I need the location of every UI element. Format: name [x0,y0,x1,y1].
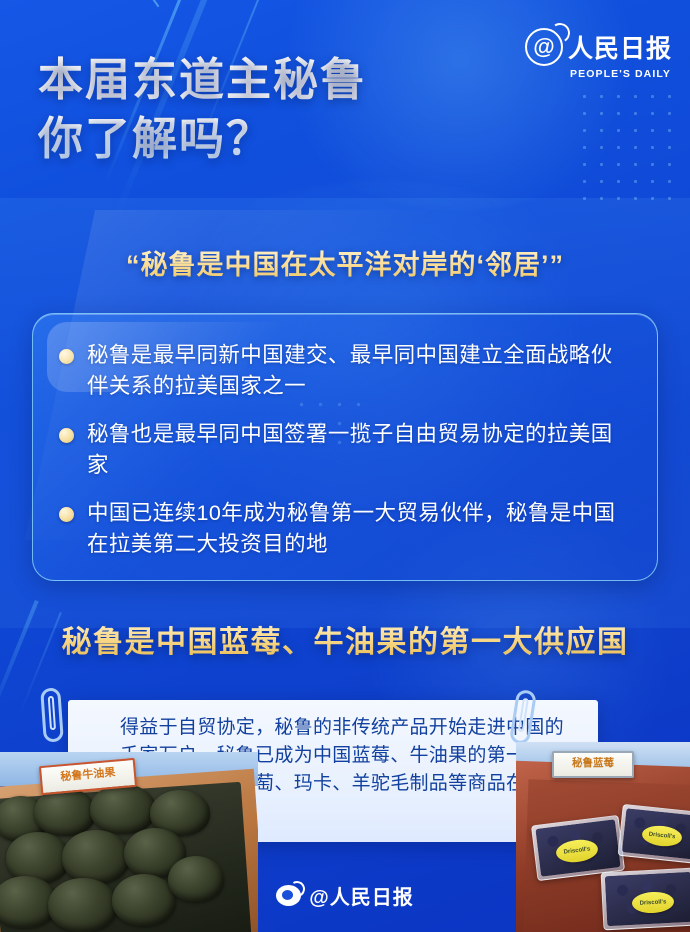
dot-grid-pattern [576,88,672,208]
paperclip-icon [40,687,64,742]
list-item-text: 秘鲁是最早同新中国建交、最早同中国建立全面战略伙伴关系的拉美国家之一 [87,340,627,403]
section-subheading: 秘鲁是中国蓝莓、牛油果的第一大供应国 [0,617,690,661]
weibo-icon [276,885,301,906]
at-sign-icon: @ [525,28,563,66]
list-item-text: 中国已连续10年成为秘鲁第一大贸易伙伴，秘鲁是中国在拉美第二大投资目的地 [87,498,627,561]
avocado [62,830,130,884]
page-title: 本届东道主秘鲁 你了解吗？ [38,50,367,169]
product-tag-blueberry: 秘鲁蓝莓 [552,751,634,778]
weibo-signal-arc [287,879,307,899]
list-item-text: 秘鲁也是最早同中国签署一揽子自由贸易协定的拉美国家 [87,419,627,482]
footer-watermark: @人民日报 [0,881,690,910]
pull-quote: “秘鲁是中国在太平洋对岸的‘邻居’” [0,243,690,282]
list-item: 秘鲁也是最早同中国签署一揽子自由贸易协定的拉美国家 [59,419,627,482]
bullet-dot-icon [59,428,74,443]
list-item: 秘鲁是最早同新中国建交、最早同中国建立全面战略伙伴关系的拉美国家之一 [59,340,627,403]
logo-chinese-name: 人民日报 [568,29,672,65]
logo-english-name: PEOPLE'S DAILY [570,68,671,80]
list-item: 中国已连续10年成为秘鲁第一大贸易伙伴，秘鲁是中国在拉美第二大投资目的地 [59,498,627,561]
peoples-daily-logo: @ 人民日报 PEOPLE'S DAILY [525,28,672,80]
bullet-dot-icon [59,507,74,522]
avocado [34,788,96,836]
footer-handle: @人民日报 [309,881,414,910]
bullet-dot-icon [59,349,74,364]
infographic-poster: @ 人民日报 PEOPLE'S DAILY 本届东道主秘鲁 你了解吗？ “秘鲁是… [0,0,690,932]
avocado [90,784,156,834]
logo-row: @ 人民日报 [525,28,672,66]
facts-card: 秘鲁是最早同新中国建交、最早同中国建立全面战略伙伴关系的拉美国家之一 秘鲁也是最… [32,313,658,581]
